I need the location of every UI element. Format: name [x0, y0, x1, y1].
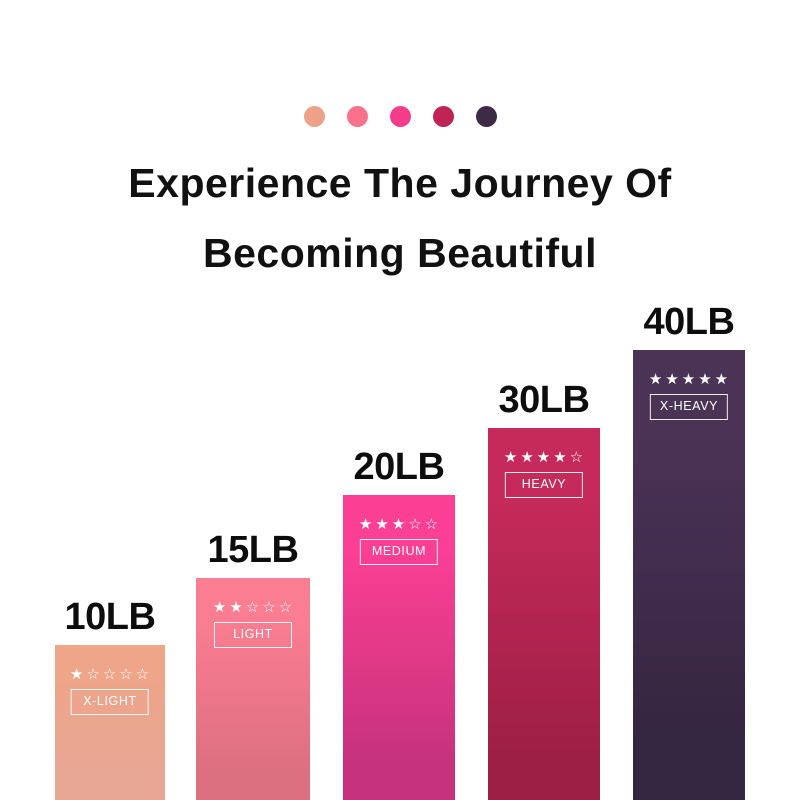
star-empty-icon: ☆	[279, 600, 293, 615]
star-filled-icon: ★	[375, 517, 389, 532]
star-empty-icon: ☆	[136, 667, 150, 682]
star-empty-icon: ☆	[425, 517, 439, 532]
star-rating: ★★★★☆	[504, 450, 584, 465]
star-rating: ★★★☆☆	[359, 517, 439, 532]
tier-label: X-LIGHT	[71, 689, 149, 715]
bar-badge: ★★★★☆HEAVY	[496, 450, 592, 498]
bar-weight-label: 40LB	[633, 300, 745, 344]
star-filled-icon: ★	[70, 667, 84, 682]
bar-weight-label: 10LB	[55, 595, 165, 639]
bar-weight-label: 15LB	[196, 528, 310, 572]
bar-rect[interactable]: ★★★★★X-HEAVY	[633, 350, 745, 800]
star-filled-icon: ★	[504, 450, 518, 465]
star-empty-icon: ☆	[86, 667, 100, 682]
star-empty-icon: ☆	[103, 667, 117, 682]
bar-group-x-heavy[interactable]: 40LB★★★★★X-HEAVY	[633, 350, 745, 800]
bar-weight-label: 30LB	[488, 378, 600, 422]
bar-group-light[interactable]: 15LB★★☆☆☆LIGHT	[196, 578, 310, 800]
bar-badge: ★★★☆☆MEDIUM	[351, 517, 447, 565]
star-filled-icon: ★	[537, 450, 551, 465]
bar-badge: ★★★★★X-HEAVY	[641, 372, 737, 420]
bar-group-medium[interactable]: 20LB★★★☆☆MEDIUM	[343, 495, 455, 800]
poster-canvas: Experience The Journey Of Becoming Beaut…	[0, 0, 800, 800]
bar-group-x-light[interactable]: 10LB★☆☆☆☆X-LIGHT	[55, 645, 165, 800]
star-empty-icon: ☆	[246, 600, 260, 615]
bar-badge: ★☆☆☆☆X-LIGHT	[63, 667, 158, 715]
bar-rect[interactable]: ★★★★☆HEAVY	[488, 428, 600, 800]
star-filled-icon: ★	[715, 372, 729, 387]
star-filled-icon: ★	[665, 372, 679, 387]
tier-label: MEDIUM	[360, 539, 438, 565]
star-empty-icon: ☆	[119, 667, 133, 682]
star-filled-icon: ★	[392, 517, 406, 532]
tier-label: LIGHT	[214, 622, 292, 648]
resistance-bar-chart: 10LB★☆☆☆☆X-LIGHT15LB★★☆☆☆LIGHT20LB★★★☆☆M…	[0, 0, 800, 800]
star-empty-icon: ☆	[408, 517, 422, 532]
star-empty-icon: ☆	[262, 600, 276, 615]
bar-rect[interactable]: ★☆☆☆☆X-LIGHT	[55, 645, 165, 800]
star-rating: ★☆☆☆☆	[70, 667, 150, 682]
bar-weight-label: 20LB	[343, 445, 455, 489]
star-filled-icon: ★	[229, 600, 243, 615]
bar-rect[interactable]: ★★☆☆☆LIGHT	[196, 578, 310, 800]
star-filled-icon: ★	[213, 600, 227, 615]
star-filled-icon: ★	[682, 372, 696, 387]
bar-rect[interactable]: ★★★☆☆MEDIUM	[343, 495, 455, 800]
star-filled-icon: ★	[553, 450, 567, 465]
star-filled-icon: ★	[359, 517, 373, 532]
bar-badge: ★★☆☆☆LIGHT	[204, 600, 302, 648]
star-filled-icon: ★	[520, 450, 534, 465]
tier-label: HEAVY	[505, 472, 583, 498]
bar-group-heavy[interactable]: 30LB★★★★☆HEAVY	[488, 428, 600, 800]
star-rating: ★★☆☆☆	[213, 600, 293, 615]
star-empty-icon: ☆	[570, 450, 584, 465]
star-rating: ★★★★★	[649, 372, 729, 387]
tier-label: X-HEAVY	[650, 394, 728, 420]
star-filled-icon: ★	[698, 372, 712, 387]
star-filled-icon: ★	[649, 372, 663, 387]
